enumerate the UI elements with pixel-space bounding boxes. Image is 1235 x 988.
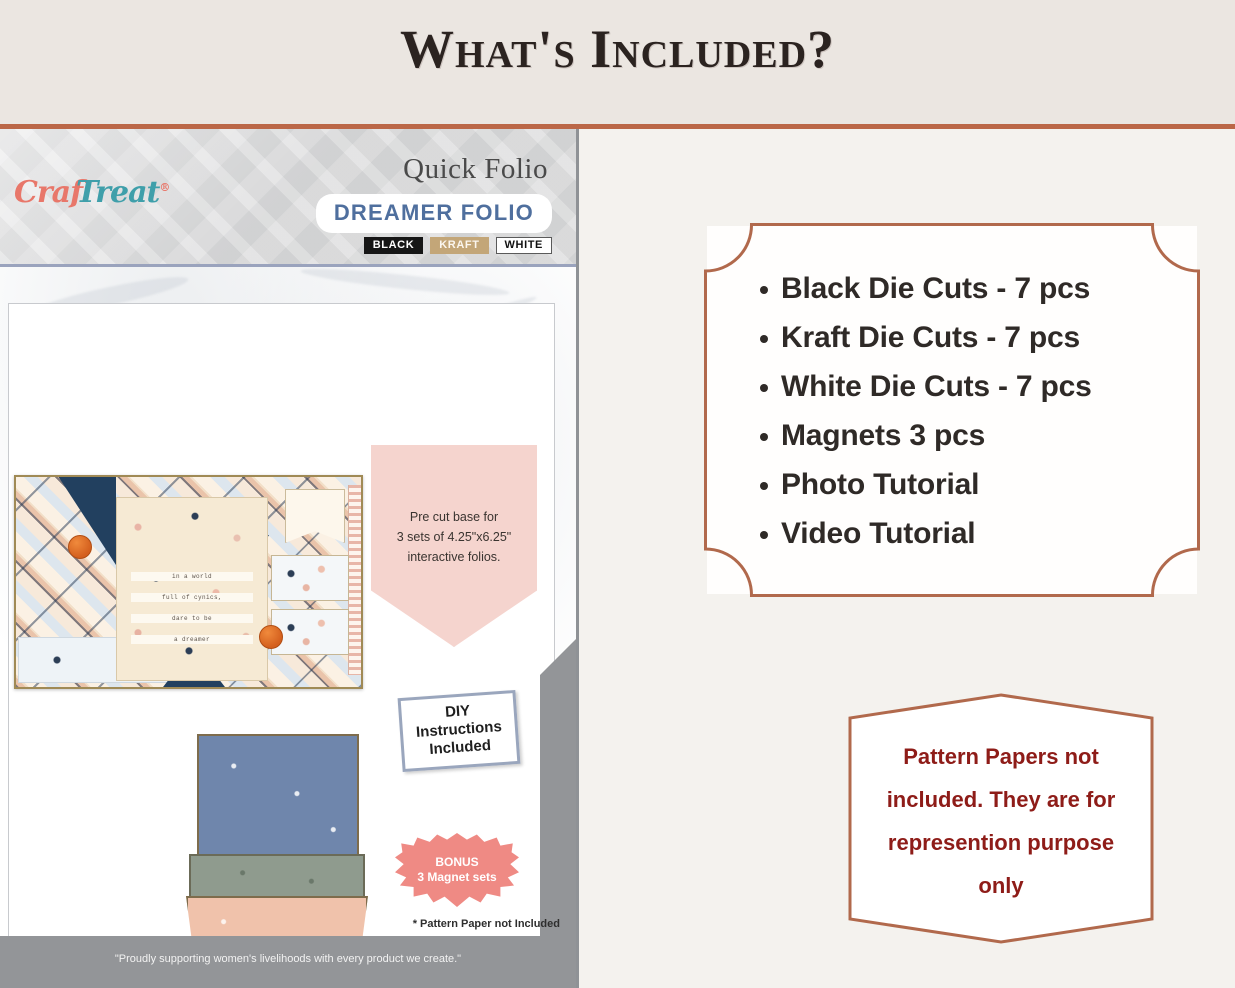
orange-button-embellishment — [68, 535, 92, 559]
layout-quote-line: full of cynics, — [131, 593, 253, 602]
disclaimer-line-1: Pattern Papers not — [875, 735, 1127, 778]
scrapbook-layout-photo: in a world full of cynics, dare to be a … — [14, 475, 363, 689]
marble-vein — [300, 264, 510, 300]
disclaimer-line-4: only — [875, 864, 1127, 907]
precut-banner-text: Pre cut base for 3 sets of 4.25"x6.25" i… — [371, 507, 537, 567]
list-item: Photo Tutorial — [781, 460, 1092, 509]
header-band: What's Included? — [0, 0, 1235, 124]
list-item: Black Die Cuts - 7 pcs — [781, 264, 1092, 313]
disclaimer-box: Pattern Papers not included. They are fo… — [847, 693, 1155, 944]
layout-quote-line: in a world — [131, 572, 253, 581]
swatch-white: WHITE — [496, 237, 552, 254]
folio-middle-panel — [189, 854, 365, 900]
included-items-box: Black Die Cuts - 7 pcs Kraft Die Cuts - … — [707, 226, 1197, 594]
page-title: What's Included? — [0, 18, 1235, 80]
bonus-line-2: 3 Magnet sets — [395, 870, 519, 885]
precut-line-1: Pre cut base for — [371, 507, 537, 527]
product-name-badge: DREAMER FOLIO — [316, 194, 552, 233]
disclaimer-line-3: represention purpose — [875, 821, 1127, 864]
list-item: Kraft Die Cuts - 7 pcs — [781, 313, 1092, 362]
disclaimer-line-2: included. They are for — [875, 778, 1127, 821]
layout-quote-line: a dreamer — [131, 635, 253, 644]
list-item: White Die Cuts - 7 pcs — [781, 362, 1092, 411]
mini-pattern-strip — [271, 555, 349, 601]
list-item: Video Tutorial — [781, 509, 1092, 558]
mini-pattern-strip — [271, 609, 349, 655]
package-body: in a world full of cynics, dare to be a … — [0, 267, 576, 988]
bonus-badge-text: BONUS 3 Magnet sets — [395, 855, 519, 885]
product-series-label: Quick Folio — [403, 153, 548, 186]
orange-button-embellishment — [259, 625, 283, 649]
list-item: Magnets 3 pcs — [781, 411, 1092, 460]
pattern-paper-note: * Pattern Paper not Included — [413, 918, 560, 930]
package-grey-corner — [540, 639, 576, 675]
package-footer-tagline: "Proudly supporting women's livelihoods … — [0, 953, 576, 965]
layout-quote-line: dare to be — [131, 614, 253, 623]
precut-line-3: interactive folios. — [371, 547, 537, 567]
bonus-line-1: BONUS — [395, 855, 519, 870]
brand-logo: CrafTreat® — [14, 175, 169, 210]
folio-back-panel — [197, 734, 359, 858]
precut-line-2: 3 sets of 4.25"x6.25" — [371, 527, 537, 547]
swatch-black: BLACK — [364, 237, 424, 254]
right-content-column: Black Die Cuts - 7 pcs Kraft Die Cuts - … — [579, 129, 1235, 988]
color-swatch-row: BLACK KRAFT WHITE — [364, 237, 552, 254]
ruler-edge-strip — [348, 485, 361, 675]
included-items-list: Black Die Cuts - 7 pcs Kraft Die Cuts - … — [759, 264, 1092, 558]
diy-instructions-badge: DIY Instructions Included — [398, 690, 521, 772]
registered-mark-icon: ® — [159, 181, 169, 194]
disclaimer-text: Pattern Papers not included. They are fo… — [875, 735, 1127, 907]
brand-logo-part-one: Craf — [14, 175, 82, 210]
slide-canvas: What's Included? CrafTreat® Quick Folio … — [0, 0, 1235, 988]
package-header-strip: CrafTreat® Quick Folio DREAMER FOLIO BLA… — [0, 129, 576, 267]
brand-logo-part-two: Treat — [76, 175, 159, 210]
package-footer-band: "Proudly supporting women's livelihoods … — [0, 936, 576, 988]
product-image-panel: CrafTreat® Quick Folio DREAMER FOLIO BLA… — [0, 129, 579, 988]
floral-card-panel: in a world full of cynics, dare to be a … — [116, 497, 268, 681]
swatch-kraft: KRAFT — [430, 237, 488, 254]
